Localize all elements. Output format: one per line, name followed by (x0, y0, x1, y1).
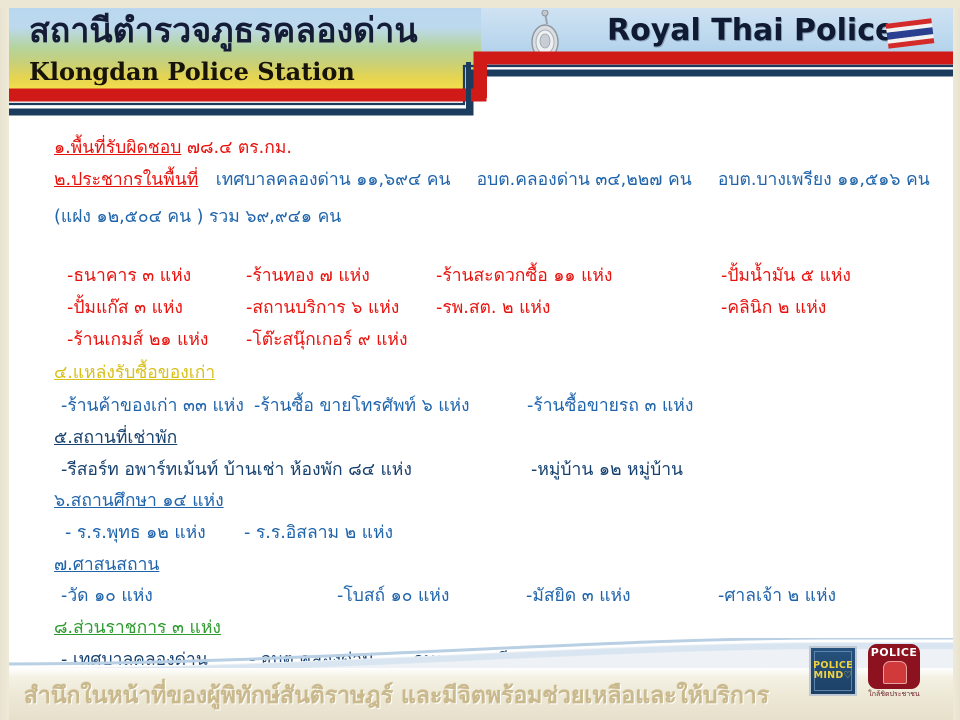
item-7-heading: ๗.ศาสนสถาน (54, 557, 159, 575)
facility-row2-col4: -คลินิก ๒ แห่ง (721, 300, 826, 318)
police-mind-line-2: MIND♡ (814, 671, 853, 681)
item-2-pop-a: เทศบาลคลองด่าน ๑๑,๖๙๔ คน (216, 170, 451, 190)
item-6-entry-1: - ร.ร.พุทธ ๑๒ แห่ง (65, 525, 206, 543)
facility-row2-col1: -ปั้มแก๊ส ๓ แห่ง (67, 300, 183, 318)
facility-row1-col1: -ธนาคาร ๓ แห่ง (67, 268, 191, 286)
facility-row2-col2: -สถานบริการ ๖ แห่ง (246, 300, 399, 318)
facility-row3-col2: -โต๊ะสนุ๊กเกอร์ ๙ แห่ง (246, 332, 408, 350)
page-margin-right (953, 0, 960, 720)
item-2-pop-b: อบต.คลองด่าน ๓๔,๒๒๗ คน (477, 170, 692, 190)
police-badge-logo: POLICE ใกล้ชิดประชาชน (868, 644, 920, 698)
item-7-entry-4: -ศาลเจ้า ๒ แห่ง (718, 588, 836, 606)
facility-row1-col4: -ปั้มน้ำมัน ๕ แห่ง (721, 268, 851, 286)
police-mind-logo: POLICE MIND♡ (809, 646, 857, 696)
item-2-heading: ๒.ประชากรในพื้นที่ (54, 170, 198, 190)
slide-body: ๑.พื้นที่รับผิดชอบ ๗๘.๔ ตร.กม. ๒.ประชากร… (9, 130, 953, 640)
facility-row1-col3: -ร้านสะดวกซื้อ ๑๑ แห่ง (436, 268, 612, 286)
item-1-heading: ๑.พื้นที่รับผิดชอบ (54, 138, 181, 158)
item-2-population: ๒.ประชากรในพื้นที่__เทศบาลคลองด่าน ๑๑,๖๙… (54, 172, 930, 190)
item-4-entry-2: -ร้านซื้อ ขายโทรศัพท์ ๖ แห่ง (254, 398, 470, 416)
item-7-entry-3: -มัสยิด ๓ แห่ง (526, 588, 631, 606)
item-5-entry-1: -รีสอร์ท อพาร์ทเม้นท์ บ้านเช่า ห้องพัก ๘… (61, 462, 412, 480)
police-logo-word: POLICE (868, 646, 920, 659)
slide-canvas: สถานีตำรวจภูธรคลองด่าน Klongdan Police S… (0, 0, 960, 720)
item-5-entry-2: -หมู่บ้าน ๑๒ หมู่บ้าน (531, 462, 683, 480)
item-2-pop-c: อบต.บางเพรียง ๑๑,๕๑๖ คน (718, 170, 930, 190)
page-margin-left (0, 0, 9, 720)
siren-icon (883, 661, 907, 684)
facility-row1-col2: -ร้านทอง ๗ แห่ง (246, 268, 370, 286)
page-margin-top (0, 0, 960, 8)
item-4-entry-3: -ร้านซื้อขายรถ ๓ แห่ง (527, 398, 693, 416)
item-1-area: ๑.พื้นที่รับผิดชอบ ๗๘.๔ ตร.กม. (54, 140, 292, 158)
item-6-entry-2: - ร.ร.อิสลาม ๒ แห่ง (244, 525, 393, 543)
item-8-heading: ๘.ส่วนราชการ ๓ แห่ง (54, 620, 221, 638)
facility-row3-col1: -ร้านเกมส์ ๒๑ แห่ง (67, 332, 208, 350)
item-7-entry-1: -วัด ๑๐ แห่ง (61, 588, 153, 606)
item-5-heading: ๕.สถานที่เช่าพัก (54, 430, 177, 448)
item-7-entry-2: -โบสถ์ ๑๐ แห่ง (337, 588, 449, 606)
item-1-value: ๗๘.๔ ตร.กม. (181, 138, 292, 158)
item-6-heading: ๖.สถานศึกษา ๑๔ แห่ง (54, 493, 224, 511)
item-4-heading: ๔.แหล่งรับซื้อของเก่า (54, 365, 215, 383)
item-2-pop-total: (แฝง ๑๒,๕๐๔ คน ) รวม ๖๙,๙๔๑ คน (54, 209, 341, 227)
police-logo-subtitle: ใกล้ชิดประชาชน (868, 689, 920, 700)
footer-slogan: สำนึกในหน้าที่ของผู้พิทักษ์สันติราษฎร์ แ… (24, 678, 769, 714)
decorative-ribbon-bands (0, 0, 960, 140)
facility-row2-col3: -รพ.สต. ๒ แห่ง (436, 300, 550, 318)
item-4-entry-1: -ร้านค้าของเก่า ๓๓ แห่ง (61, 398, 244, 416)
